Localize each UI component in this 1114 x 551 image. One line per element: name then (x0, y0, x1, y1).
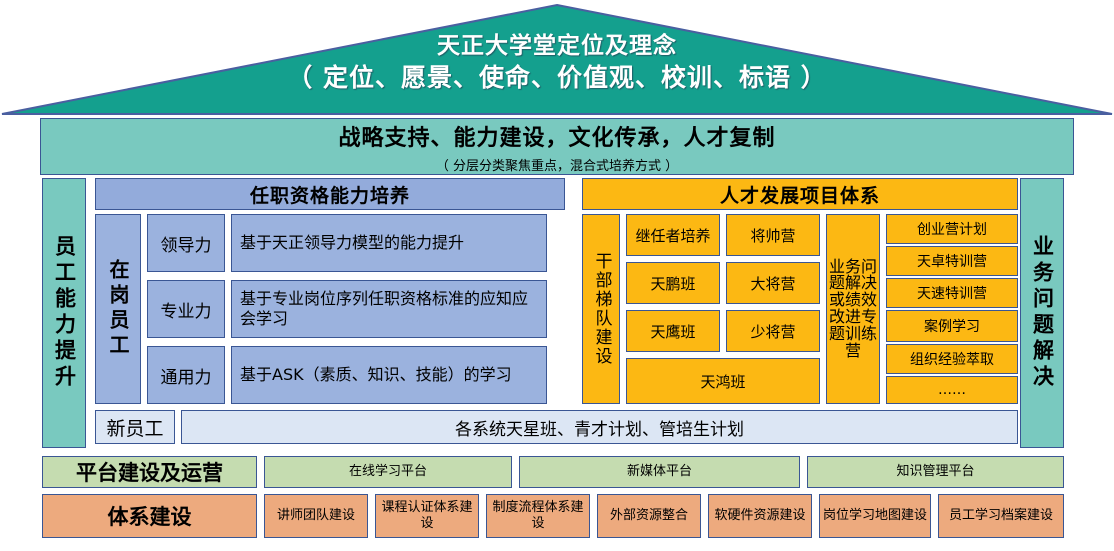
capability-general[interactable]: 通用力 (147, 346, 225, 404)
cadre-program-tianpeng[interactable]: 天鹏班 (626, 262, 720, 304)
pillar-left-employee-capability: 员工能力提升 (42, 178, 86, 448)
roof-shape: 天正大学堂定位及理念 （ 定位、愿景、使命、价值观、校训、标语 ） (0, 2, 1114, 116)
roof-title-line1: 天正大学堂定位及理念 (0, 32, 1114, 62)
special-program-case-study[interactable]: 案例学习 (886, 310, 1018, 342)
system-item-trainer-team[interactable]: 讲师团队建设 (264, 494, 368, 538)
platform-row-label: 平台建设及运营 (42, 456, 257, 488)
qualification-title: 任职资格能力培养 (95, 178, 565, 210)
strategy-band-main: 战略支持、能力建设，文化传承，人才复制 (338, 120, 775, 152)
special-program-tianzhuo[interactable]: 天卓特训营 (886, 246, 1018, 276)
roof-title-block: 天正大学堂定位及理念 （ 定位、愿景、使命、价值观、校训、标语 ） (0, 32, 1114, 94)
cadre-echelon-label: 干部梯队建设 (593, 252, 610, 366)
special-program-org-experience[interactable]: 组织经验萃取 (886, 344, 1018, 374)
cadre-program-minor-camp[interactable]: 少将营 (726, 310, 820, 352)
business-problem-training-camp[interactable]: 业务问题解决或绩效改进专题训练营 (826, 214, 880, 404)
strategy-band-sub: （ 分层分类聚焦重点，混合式培养方式 ） (436, 155, 678, 174)
platform-item-new-media[interactable]: 新媒体平台 (519, 456, 800, 488)
pillar-right-label: 业务问题解决 (1032, 235, 1053, 391)
special-program-startup-camp[interactable]: 创业营计划 (886, 214, 1018, 244)
strategy-band: 战略支持、能力建设，文化传承，人才复制 （ 分层分类聚焦重点，混合式培养方式 ） (40, 118, 1074, 175)
capability-leadership-desc: 基于天正领导力模型的能力提升 (231, 214, 547, 272)
capability-leadership[interactable]: 领导力 (147, 214, 225, 272)
system-item-course-cert[interactable]: 课程认证体系建设 (375, 494, 479, 538)
cadre-program-tianhong[interactable]: 天鸿班 (626, 358, 820, 404)
qualification-group-onjob: 在岗员工 (95, 214, 141, 404)
capability-professional-desc: 基于专业岗位序列任职资格标准的应知应会学习 (231, 280, 547, 338)
system-item-process-system[interactable]: 制度流程体系建设 (486, 494, 590, 538)
system-row-label: 体系建设 (42, 494, 257, 538)
cadre-program-successor[interactable]: 继任者培养 (626, 214, 720, 256)
system-item-external-res[interactable]: 外部资源整合 (597, 494, 701, 538)
pyramid-diagram: 天正大学堂定位及理念 （ 定位、愿景、使命、价值观、校训、标语 ） 战略支持、能… (0, 0, 1114, 551)
new-employee-description: 各系统天星班、青才计划、管培生计划 (181, 410, 1018, 444)
system-item-learning-map[interactable]: 岗位学习地图建设 (819, 494, 931, 538)
special-program-tiansu[interactable]: 天速特训营 (886, 278, 1018, 308)
special-program-more[interactable]: …… (886, 376, 1018, 404)
capability-professional[interactable]: 专业力 (147, 280, 225, 338)
system-item-hw-sw-res[interactable]: 软硬件资源建设 (708, 494, 812, 538)
system-item-employee-record[interactable]: 员工学习档案建设 (938, 494, 1064, 538)
cadre-program-tianying[interactable]: 天鹰班 (626, 310, 720, 352)
roof-title-line2: （ 定位、愿景、使命、价值观、校训、标语 ） (0, 62, 1114, 95)
cadre-program-general-camp[interactable]: 将帅营 (726, 214, 820, 256)
platform-item-online-learning[interactable]: 在线学习平台 (264, 456, 512, 488)
cadre-echelon-label-box: 干部梯队建设 (582, 214, 620, 404)
pillar-left-label: 员工能力提升 (54, 235, 75, 391)
capability-general-desc: 基于ASK（素质、知识、技能）的学习 (231, 346, 547, 404)
new-employee-label: 新员工 (95, 410, 175, 444)
talent-development-title: 人才发展项目体系 (582, 178, 1018, 210)
platform-item-knowledge-mgmt[interactable]: 知识管理平台 (807, 456, 1064, 488)
pillar-right-business-problem: 业务问题解决 (1020, 178, 1064, 448)
qualification-group-label: 在岗员工 (108, 259, 128, 359)
cadre-program-major-camp[interactable]: 大将营 (726, 262, 820, 304)
